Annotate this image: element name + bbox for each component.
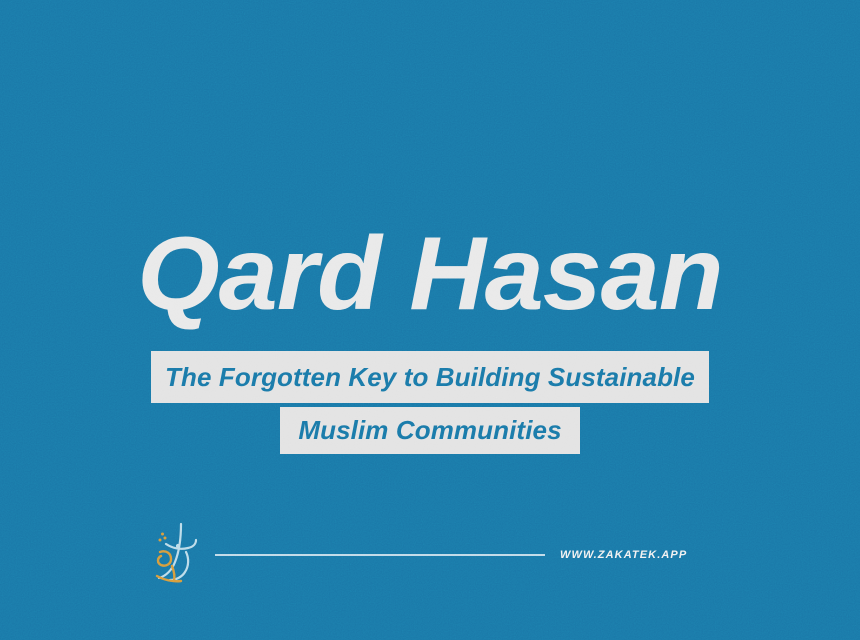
footer-bar: WWW.ZAKATEK.APP <box>0 512 860 598</box>
site-url-label: WWW.ZAKATEK.APP <box>560 549 687 561</box>
title-block: Qard Hasan <box>0 222 860 326</box>
subtitle-line-1: The Forgotten Key to Building Sustainabl… <box>0 351 860 403</box>
subtitle-line-2: Muslim Communities <box>0 407 860 454</box>
subtitle-block: The Forgotten Key to Building Sustainabl… <box>0 351 860 454</box>
poster-canvas: Qard Hasan The Forgotten Key to Building… <box>0 0 860 640</box>
zakat-calligraphy-logo-icon <box>148 518 202 592</box>
subtitle-highlight-2: Muslim Communities <box>280 407 579 454</box>
footer-divider <box>215 554 545 556</box>
page-title: Qard Hasan <box>137 222 722 326</box>
subtitle-highlight-1: The Forgotten Key to Building Sustainabl… <box>151 351 709 403</box>
footer-content: WWW.ZAKATEK.APP <box>148 512 860 598</box>
